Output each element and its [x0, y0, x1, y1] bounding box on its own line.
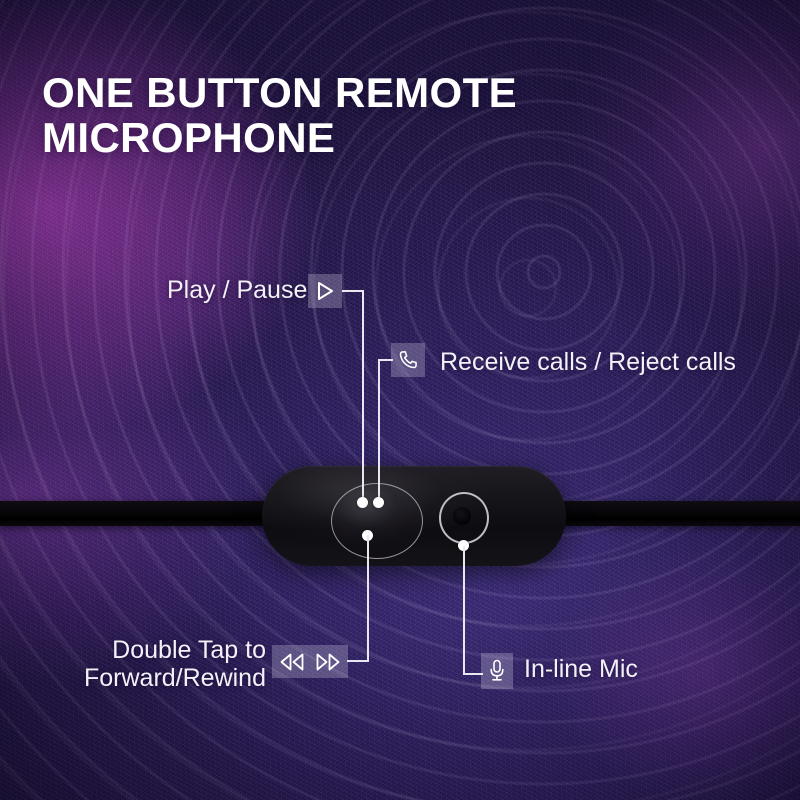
leader-dot-calls [373, 497, 384, 508]
leader-line-play-horizontal [342, 290, 364, 292]
page-title-line-2: MICROPHONE [42, 115, 702, 160]
callout-label-double-tap-line-1: Double Tap to [112, 636, 266, 664]
infographic-canvas: ONE BUTTON REMOTE MICROPHONE [0, 0, 800, 800]
callout-label-double-tap: Double Tap to Forward/Rewind [80, 636, 266, 692]
callout-label-play-pause: Play / Pause [167, 276, 307, 304]
rewind-icon [277, 652, 307, 672]
leader-line-mic-horizontal [463, 673, 483, 675]
leader-line-mic-vertical [463, 546, 465, 674]
callout-label-in-line-mic: In-line Mic [524, 655, 638, 683]
phone-icon-badge[interactable] [391, 343, 425, 377]
leader-line-calls-vertical [378, 359, 380, 502]
callout-label-calls: Receive calls / Reject calls [440, 348, 736, 376]
leader-line-play-vertical [362, 290, 364, 502]
phone-icon [397, 349, 419, 371]
play-icon [315, 280, 335, 302]
page-title: ONE BUTTON REMOTE MICROPHONE [42, 70, 702, 161]
leader-dot-play [357, 497, 368, 508]
multifunction-button[interactable] [331, 483, 423, 559]
play-icon-badge[interactable] [308, 274, 342, 308]
microphone-icon [487, 658, 507, 684]
fast-forward-icon [313, 652, 343, 672]
leader-line-double-tap-vertical [367, 535, 369, 661]
leader-line-double-tap-horizontal [347, 660, 369, 662]
rewind-forward-icon-badge[interactable] [272, 645, 348, 678]
page-title-line-1: ONE BUTTON REMOTE [42, 69, 517, 116]
microphone-icon-badge[interactable] [481, 653, 513, 689]
callout-label-double-tap-line-2: Forward/Rewind [84, 664, 266, 692]
mic-hole [453, 507, 471, 525]
